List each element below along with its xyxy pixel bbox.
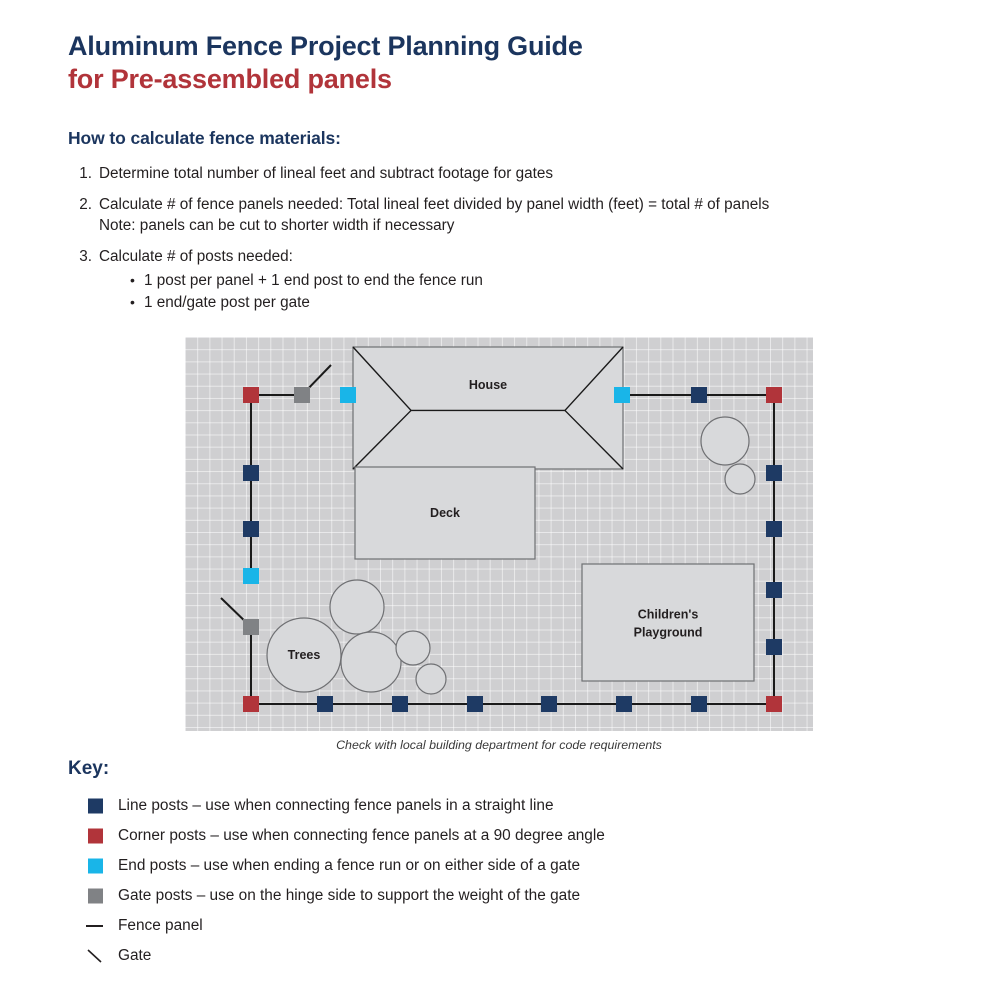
key-label: End posts – use when ending a fence run … — [118, 856, 580, 876]
key-label: Fence panel — [118, 916, 203, 936]
line-post[interactable] — [766, 639, 782, 655]
key-row: End posts – use when ending a fence run … — [68, 851, 768, 881]
tree-circle — [341, 632, 401, 692]
key-row: Gate posts – use on the hinge side to su… — [68, 881, 768, 911]
step-text: Calculate # of fence panels needed: Tota… — [99, 194, 948, 215]
step-number: 1. — [68, 163, 92, 184]
page-root: Aluminum Fence Project Planning Guide fo… — [0, 0, 1000, 1000]
line-post[interactable] — [691, 696, 707, 712]
bush-circle — [725, 464, 755, 494]
key-label: Corner posts – use when connecting fence… — [118, 826, 605, 846]
key-row: Gate — [68, 941, 768, 971]
yard-diagram: HouseDeckTreesChildren'sPlayground — [185, 337, 813, 731]
line-post[interactable] — [317, 696, 333, 712]
key-row: Corner posts – use when connecting fence… — [68, 821, 768, 851]
end-post[interactable] — [340, 387, 356, 403]
playground-label: Playground — [634, 626, 703, 640]
line-post[interactable] — [766, 582, 782, 598]
corner-post[interactable] — [243, 696, 259, 712]
line-post[interactable] — [243, 465, 259, 481]
key-row: Fence panel — [68, 911, 768, 941]
gate-post[interactable] — [243, 619, 259, 635]
playground-outline — [582, 564, 754, 681]
key-heading: Key: — [68, 758, 768, 780]
end-post[interactable] — [614, 387, 630, 403]
tree-circle — [416, 664, 446, 694]
tree-circle — [396, 631, 430, 665]
gate-post[interactable] — [294, 387, 310, 403]
deck-label: Deck — [430, 506, 460, 520]
line-post[interactable] — [766, 521, 782, 537]
diagram-svg: HouseDeckTreesChildren'sPlayground — [185, 337, 813, 731]
end-post[interactable] — [243, 568, 259, 584]
house-outline — [353, 347, 623, 469]
gate-diagonal-icon — [86, 947, 104, 965]
bush-circle — [701, 417, 749, 465]
corner-post-swatch — [88, 829, 103, 844]
key-label: Gate posts – use on the hinge side to su… — [118, 886, 580, 906]
gate-post-swatch — [88, 889, 103, 904]
line-post[interactable] — [467, 696, 483, 712]
step-sub-item: 1 end/gate post per gate — [130, 292, 948, 314]
step-sublist: 1 post per panel + 1 end post to end the… — [99, 270, 948, 314]
step-text: Determine total number of lineal feet an… — [99, 163, 948, 184]
key-label: Gate — [118, 946, 151, 966]
howto-step: 1.Determine total number of lineal feet … — [68, 163, 948, 184]
step-number: 3. — [68, 246, 92, 267]
howto-heading: How to calculate fence materials: — [68, 128, 948, 149]
house-label: House — [469, 378, 507, 392]
corner-post[interactable] — [766, 387, 782, 403]
tree-circle — [330, 580, 384, 634]
key-section: Key: Line posts – use when connecting fe… — [68, 758, 768, 971]
title-line-2: for Pre-assembled panels — [68, 63, 583, 96]
end-post-swatch — [88, 859, 103, 874]
key-row: Line posts – use when connecting fence p… — [68, 791, 768, 821]
key-label: Line posts – use when connecting fence p… — [118, 796, 554, 816]
line-post[interactable] — [541, 696, 557, 712]
diagram-caption: Check with local building department for… — [185, 738, 813, 752]
trees-label: Trees — [288, 648, 321, 662]
line-post[interactable] — [243, 521, 259, 537]
line-post[interactable] — [392, 696, 408, 712]
line-post-swatch — [88, 799, 103, 814]
page-title: Aluminum Fence Project Planning Guide fo… — [68, 30, 583, 96]
diagram-canvas: HouseDeckTreesChildren'sPlayground — [185, 337, 813, 731]
step-text: Calculate # of posts needed: — [99, 246, 948, 267]
line-post[interactable] — [766, 465, 782, 481]
line-post[interactable] — [616, 696, 632, 712]
step-sub-item: 1 post per panel + 1 end post to end the… — [130, 270, 948, 292]
key-rows: Line posts – use when connecting fence p… — [68, 791, 768, 971]
corner-post[interactable] — [243, 387, 259, 403]
playground-label: Children's — [638, 608, 699, 622]
howto-step: 3.Calculate # of posts needed:1 post per… — [68, 246, 948, 314]
howto-section: How to calculate fence materials: 1.Dete… — [68, 128, 948, 324]
step-number: 2. — [68, 194, 92, 215]
fence-panel-dash-icon — [86, 925, 103, 927]
corner-post[interactable] — [766, 696, 782, 712]
howto-steps-list: 1.Determine total number of lineal feet … — [68, 163, 948, 314]
step-text: Note: panels can be cut to shorter width… — [99, 215, 948, 236]
howto-step: 2.Calculate # of fence panels needed: To… — [68, 194, 948, 236]
line-post[interactable] — [691, 387, 707, 403]
title-line-1: Aluminum Fence Project Planning Guide — [68, 30, 583, 63]
